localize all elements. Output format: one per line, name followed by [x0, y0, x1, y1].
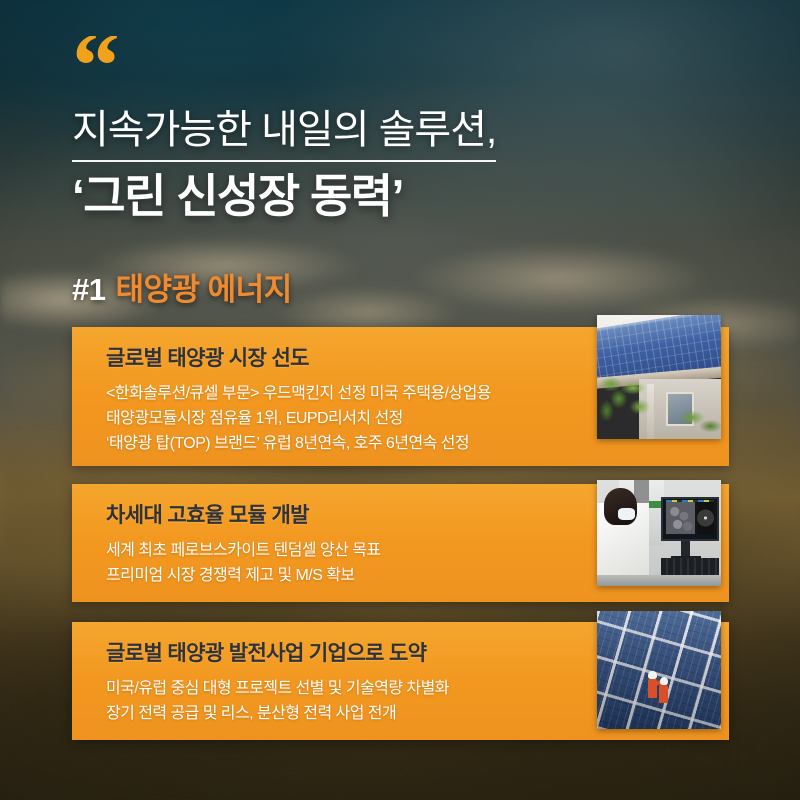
photo-2-desk	[597, 575, 721, 586]
card-3-line-2: 장기 전력 공급 및 리스, 분산형 전력 사업 전개	[106, 702, 518, 727]
title-divider-rule	[72, 160, 496, 162]
card-3-line-1: 미국/유럽 중심 대형 프로젝트 선별 및 기술역량 차별화	[106, 677, 518, 702]
card-1-line-3: ‘태양광 탑(TOP) 브랜드’ 유럽 8년연속, 호주 6년연속 선정	[106, 432, 518, 457]
card-3-title: 글로벌 태양광 발전사업 기업으로 도약	[106, 641, 518, 666]
card-3-lines: 미국/유럽 중심 대형 프로젝트 선별 및 기술역량 차별화 장기 전력 공급 …	[106, 677, 518, 727]
photo-2-keyboard	[661, 558, 718, 575]
photo-3-worker-2-helmet	[660, 677, 668, 685]
poster-canvas: “ 지속가능한 내일의 솔루션, ‘그린 신성장 동력’ #1태양광 에너지 글…	[0, 0, 800, 800]
photo-2-micrograph	[666, 502, 696, 534]
card-1-body: 글로벌 태양광 시장 선도 <한화솔루션/큐셀 부문> 우드맥킨지 선정 미국 …	[72, 327, 542, 475]
poster-header: “ 지속가능한 내일의 솔루션, ‘그린 신성장 동력’	[72, 36, 692, 222]
photo-1-palm-tree	[599, 372, 654, 439]
card-2-line-1: 세계 최초 페로브스카이트 텐덤셀 양산 목표	[106, 539, 518, 564]
photo-1-palm-tree-2	[671, 402, 721, 439]
card-1-line-2: 태양광모듈시장 점유율 1위, EUPD리서치 선정	[106, 407, 518, 432]
photo-3-layers	[597, 611, 721, 729]
photo-2-monitor	[661, 497, 718, 542]
section-number: #1	[72, 272, 105, 307]
photo-3-shading	[597, 611, 721, 729]
card-2-body: 차세대 고효율 모듈 개발 세계 최초 페로브스카이트 텐덤셀 양산 목표 프리…	[72, 484, 542, 607]
photo-3-worker-2-body	[659, 684, 668, 703]
card-2-lines: 세계 최초 페로브스카이트 텐덤셀 양산 목표 프리미엄 시장 경쟁력 제고 및…	[106, 539, 518, 589]
card-1-line-1: <한화솔루션/큐셀 부문> 우드맥킨지 선정 미국 주택용/상업용	[106, 382, 518, 407]
poster-title-line-2: ‘그린 신성장 동력’	[72, 171, 692, 223]
card-2-photo-lab-researcher	[597, 480, 721, 586]
section-label: 태양광 에너지	[115, 272, 291, 307]
photo-2-face-mask	[618, 508, 635, 521]
poster-title-line-1: 지속가능한 내일의 솔루션,	[72, 108, 692, 153]
card-3-photo-solar-farm-workers	[597, 611, 721, 729]
section-heading: #1태양광 에너지	[72, 264, 292, 309]
card-1-lines: <한화솔루션/큐셀 부문> 우드맥킨지 선정 미국 주택용/상업용 태양광모듈시…	[106, 382, 518, 457]
card-2-line-2: 프리미엄 시장 경쟁력 제고 및 M/S 확보	[106, 564, 518, 589]
card-1-photo-rooftop-solar	[597, 315, 721, 439]
photo-2-layers	[597, 480, 721, 586]
photo-3-worker-1-helmet	[648, 671, 656, 679]
quotation-mark-icon: “	[72, 36, 692, 94]
photo-1-layers	[597, 315, 721, 439]
photo-2-diffraction-image	[697, 502, 714, 534]
card-2-title: 차세대 고효율 모듈 개발	[106, 503, 518, 528]
card-3-body: 글로벌 태양광 발전사업 기업으로 도약 미국/유럽 중심 대형 프로젝트 선별…	[72, 622, 542, 745]
card-1-title: 글로벌 태양광 시장 선도	[106, 346, 518, 371]
